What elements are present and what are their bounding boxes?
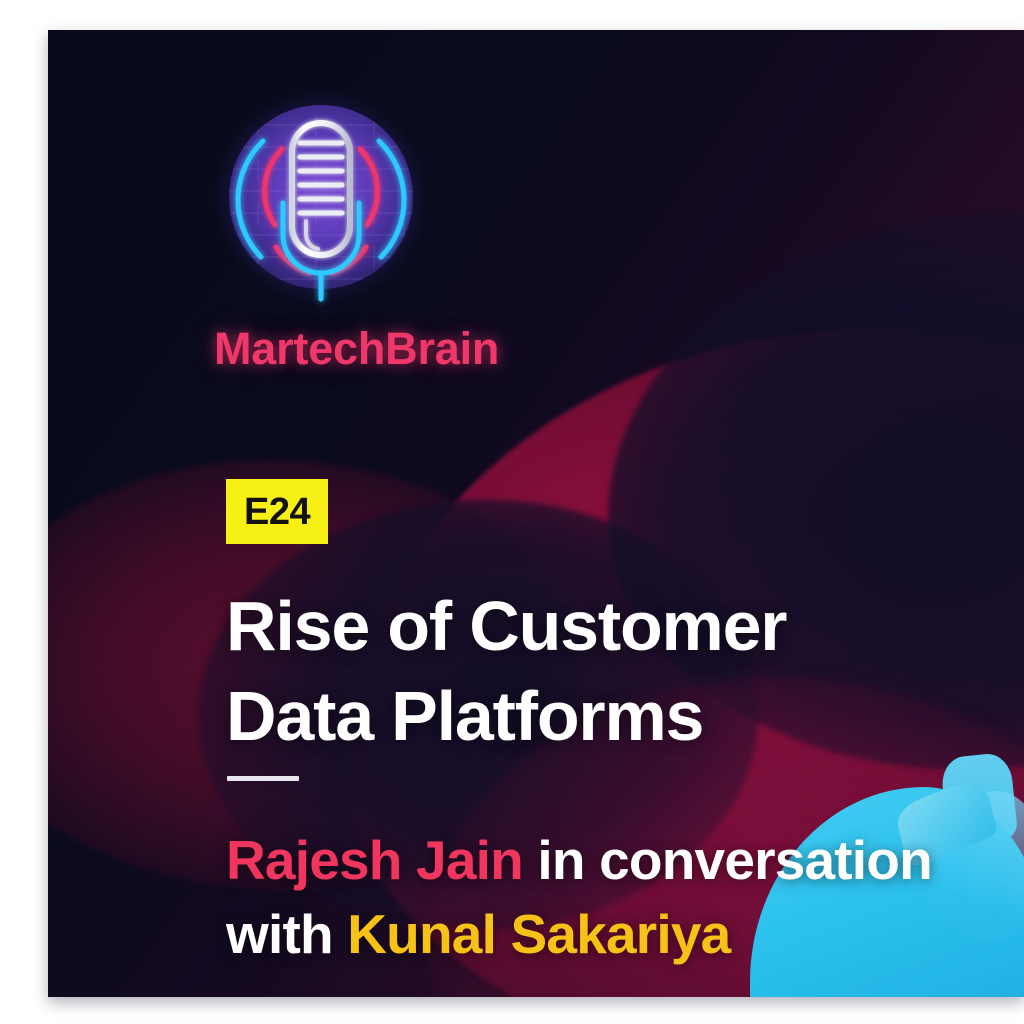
episode-title-line-2: Data Platforms (226, 672, 946, 762)
episode-title-line-1: Rise of Customer (226, 582, 946, 672)
host-name: Rajesh Jain (226, 829, 523, 891)
speakers-connector: in conversation (523, 829, 932, 891)
speakers-line: Rajesh Jain in conversation with Kunal S… (226, 823, 1016, 972)
podcast-episode-cover: MartechBrain E24 Rise of Customer Data P… (48, 30, 1024, 997)
speakers-line-1: Rajesh Jain in conversation (226, 823, 1016, 897)
episode-number-badge: E24 (226, 479, 328, 544)
brand-name: MartechBrain (214, 323, 656, 375)
speakers-line-2: with Kunal Sakariya (226, 897, 1016, 971)
speakers-with-prefix: with (226, 903, 347, 965)
brand-logo-block: MartechBrain (176, 85, 656, 375)
episode-title: Rise of Customer Data Platforms (226, 582, 946, 761)
neon-microphone-icon (206, 85, 436, 315)
screenshot-canvas: MartechBrain E24 Rise of Customer Data P… (0, 0, 1024, 1024)
guest-name: Kunal Sakariya (347, 903, 730, 965)
title-divider (227, 776, 299, 781)
